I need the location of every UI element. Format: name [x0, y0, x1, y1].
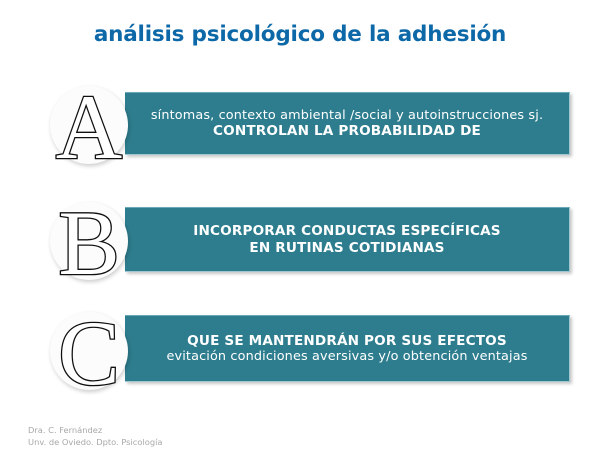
slide-canvas: análisis psicológico de la adhesión sínt…	[0, 0, 600, 450]
band-b-line-1: INCORPORAR CONDUCTAS ESPECÍFICAS	[125, 223, 569, 239]
letter-b-glyph: B	[58, 192, 119, 294]
band-c-line-1: QUE SE MANTENDRÁN POR SUS EFECTOS	[125, 333, 569, 349]
letter-a-icon: A	[50, 86, 128, 164]
medallion-b: B	[50, 202, 128, 280]
band-a: síntomas, contexto ambiental /social y a…	[125, 92, 570, 155]
footer-credit: Dra. C. Fernández Unv. de Oviedo. Dpto. …	[28, 424, 162, 448]
band-b-line-2: EN RUTINAS COTIDIANAS	[125, 240, 569, 256]
band-c-line-2: evitación condiciones aversivas y/o obte…	[125, 349, 569, 364]
letter-a-glyph: A	[56, 76, 122, 178]
band-b: INCORPORAR CONDUCTAS ESPECÍFICAS EN RUTI…	[125, 207, 570, 272]
letter-b-icon: B	[50, 202, 128, 280]
footer-affiliation: Unv. de Oviedo. Dpto. Psicología	[28, 436, 162, 448]
band-a-line-2: CONTROLAN LA PROBABILIDAD DE	[125, 123, 569, 139]
letter-c-icon: C	[50, 312, 128, 390]
footer-author: Dra. C. Fernández	[28, 424, 162, 436]
band-a-line-1: síntomas, contexto ambiental /social y a…	[125, 108, 569, 123]
page-title: análisis psicológico de la adhesión	[0, 22, 600, 47]
medallion-c: C	[50, 312, 128, 390]
letter-c-glyph: C	[58, 302, 119, 404]
band-c: QUE SE MANTENDRÁN POR SUS EFECTOS evitac…	[125, 315, 570, 382]
medallion-a: A	[50, 86, 128, 164]
